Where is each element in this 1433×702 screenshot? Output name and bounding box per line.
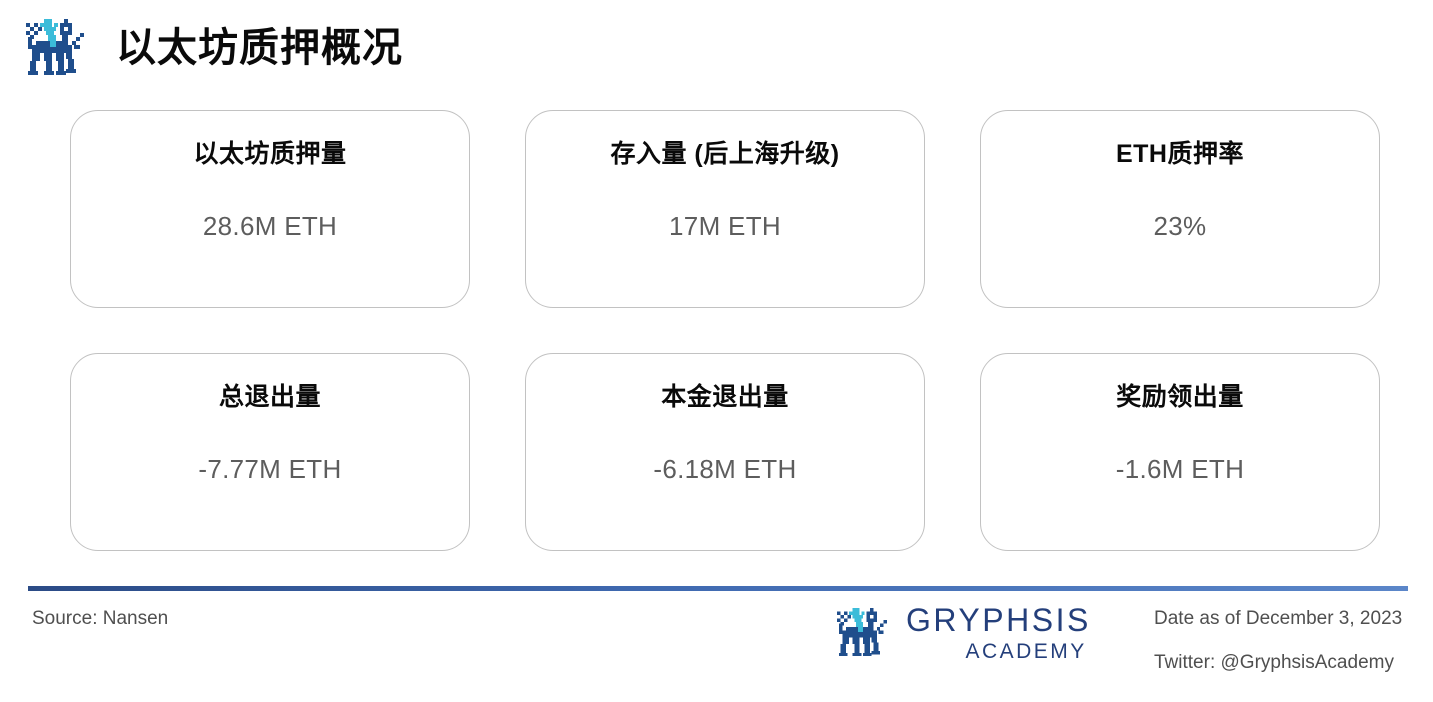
metric-card-title: 本金退出量 [661,382,789,412]
twitter-handle: Twitter: @GryphsisAcademy [1154,652,1402,674]
metric-card-title: 以太坊质押量 [193,139,346,169]
brand-subtitle: ACADEMY [965,641,1086,662]
page-header: 以太坊质押概况 [0,0,1433,96]
metric-card-title: 总退出量 [219,382,321,412]
brand-name: GRYPHSIS [906,604,1091,636]
metric-card: 本金退出量 -6.18M ETH [525,353,925,551]
footer-divider [28,586,1408,591]
footer-meta: Date as of December 3, 2023 Twitter: @Gr… [1154,608,1402,674]
metric-card-value: -7.77M ETH [198,454,341,485]
page-footer: Source: Nansen [0,596,1433,702]
metric-card-value: -6.18M ETH [653,454,796,485]
source-label: Source: Nansen [32,608,168,630]
metric-card-title: 存入量 (后上海升级) [610,139,839,169]
metric-card-title: ETH质押率 [1116,139,1244,169]
metric-card: 奖励领出量 -1.6M ETH [980,353,1380,551]
brand-lockup: GRYPHSIS ACADEMY [832,604,1091,662]
gryphsis-griffin-logo-icon [832,605,894,661]
metric-card: 总退出量 -7.77M ETH [70,353,470,551]
metric-card-title: 奖励领出量 [1116,382,1244,412]
metric-card-grid: 以太坊质押量 28.6M ETH 存入量 (后上海升级) 17M ETH ETH… [70,110,1380,551]
date-label: Date as of December 3, 2023 [1154,608,1402,630]
metric-card: 存入量 (后上海升级) 17M ETH [525,110,925,308]
metric-card-value: -1.6M ETH [1116,454,1244,485]
page-title: 以太坊质押概况 [116,28,403,68]
metric-card-value: 17M ETH [669,211,781,242]
metric-card: ETH质押率 23% [980,110,1380,308]
metric-card: 以太坊质押量 28.6M ETH [70,110,470,308]
brand-wordmark: GRYPHSIS ACADEMY [906,604,1091,662]
metric-card-value: 28.6M ETH [203,211,337,242]
metric-card-value: 23% [1154,211,1207,242]
gryphsis-griffin-logo-icon [20,17,92,79]
